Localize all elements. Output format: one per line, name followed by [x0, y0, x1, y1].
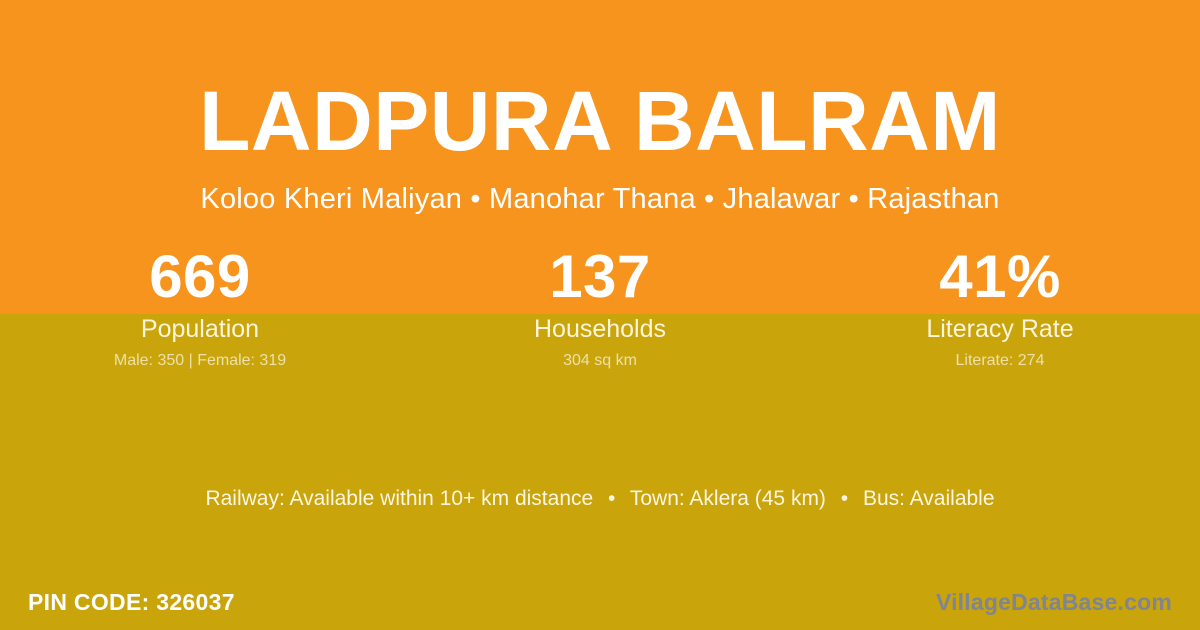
- stat-subtext: Literate: 274: [800, 352, 1200, 370]
- amenity-town: Town: Aklera (45 km): [630, 487, 826, 510]
- breadcrumb: Koloo Kheri Maliyan • Manohar Thana • Jh…: [0, 163, 1200, 214]
- amenity-railway: Railway: Available within 10+ km distanc…: [205, 487, 593, 510]
- stats-row: 669 Population Male: 350 | Female: 319 1…: [0, 248, 1200, 370]
- pin-code: PIN CODE: 326037: [28, 589, 235, 616]
- stat-label: Population: [0, 316, 400, 343]
- amenity-separator: •: [599, 487, 624, 510]
- site-watermark: VillageDataBase.com: [936, 589, 1172, 616]
- stat-value: 41%: [800, 248, 1200, 306]
- amenities-line: Railway: Available within 10+ km distanc…: [0, 486, 1200, 512]
- header: LADPURA BALRAM Koloo Kheri Maliyan • Man…: [0, 0, 1200, 214]
- amenity-separator: •: [832, 487, 857, 510]
- stat-value: 669: [0, 248, 400, 306]
- footer: PIN CODE: 326037 VillageDataBase.com: [0, 575, 1200, 630]
- stat-households: 137 Households 304 sq km: [400, 248, 800, 370]
- stat-population: 669 Population Male: 350 | Female: 319: [0, 248, 400, 370]
- amenity-bus: Bus: Available: [863, 487, 995, 510]
- stat-label: Households: [400, 316, 800, 343]
- stat-value: 137: [400, 248, 800, 306]
- village-info-card: LADPURA BALRAM Koloo Kheri Maliyan • Man…: [0, 0, 1200, 630]
- page-title: LADPURA BALRAM: [0, 0, 1200, 163]
- stat-subtext: 304 sq km: [400, 352, 800, 370]
- stat-literacy-rate: 41% Literacy Rate Literate: 274: [800, 248, 1200, 370]
- stat-subtext: Male: 350 | Female: 319: [0, 352, 400, 370]
- stat-label: Literacy Rate: [800, 316, 1200, 343]
